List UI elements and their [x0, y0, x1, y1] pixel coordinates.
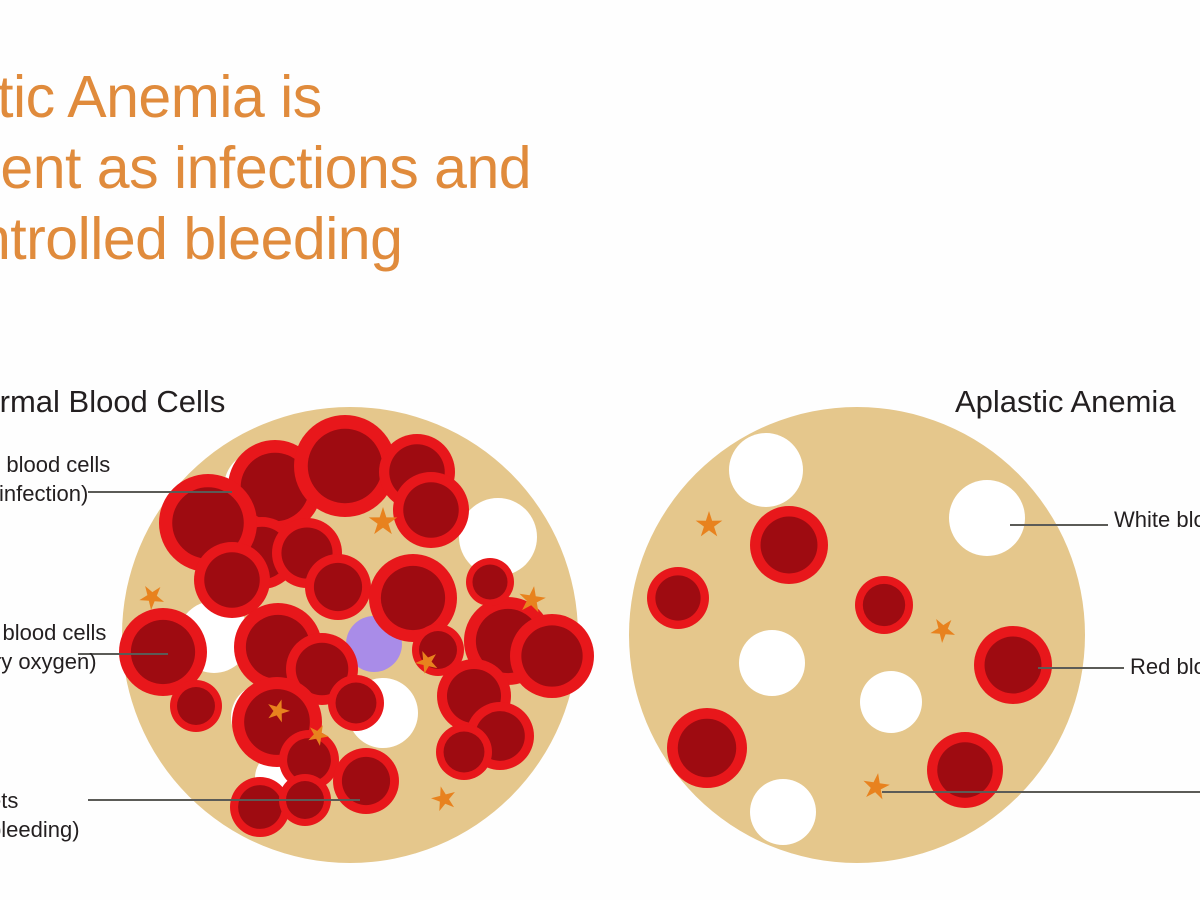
red-blood-cell [436, 724, 492, 780]
blood-cell-diagram [0, 0, 1200, 900]
annotation-red-blood-cells-right: Red blood cells [1130, 652, 1200, 681]
annotation-red-blood-cells-left: Red blood cells (carry oxygen) [0, 618, 106, 676]
annotation-white-blood-cells-right: White blood cells [1114, 505, 1200, 534]
annotation-line-1: Red blood cells [0, 618, 106, 647]
red-blood-cell [855, 576, 913, 634]
red-blood-cell [974, 626, 1052, 704]
red-blood-cell [333, 748, 399, 814]
red-blood-cell [170, 680, 222, 732]
red-blood-cell [466, 558, 514, 606]
annotation-line-1: White blood cells [1114, 505, 1200, 534]
white-blood-cell [860, 671, 922, 733]
annotation-line-1: Platelets [0, 786, 80, 815]
red-blood-cell [750, 506, 828, 584]
red-blood-cell [647, 567, 709, 629]
white-blood-cell [729, 433, 803, 507]
red-blood-cell [393, 472, 469, 548]
red-blood-cell [328, 675, 384, 731]
annotation-white-blood-cells-left: White blood cells (fight infection) [0, 450, 110, 508]
white-blood-cell [949, 480, 1025, 556]
red-blood-cell [305, 554, 371, 620]
annotation-line-1: Red blood cells [1130, 652, 1200, 681]
red-blood-cell [510, 614, 594, 698]
annotation-line-2: (fight infection) [0, 479, 110, 508]
red-blood-cell [927, 732, 1003, 808]
annotation-line-2: (carry oxygen) [0, 647, 106, 676]
white-blood-cell [750, 779, 816, 845]
red-blood-cell [667, 708, 747, 788]
infographic-page: Aplastic Anemia is apparent as infection… [0, 0, 1200, 900]
red-blood-cell [412, 624, 464, 676]
white-blood-cell [739, 630, 805, 696]
red-blood-cell [194, 542, 270, 618]
annotation-line-1: White blood cells [0, 450, 110, 479]
annotation-line-2: (stop bleeding) [0, 815, 80, 844]
annotation-platelets-left: Platelets (stop bleeding) [0, 786, 80, 844]
